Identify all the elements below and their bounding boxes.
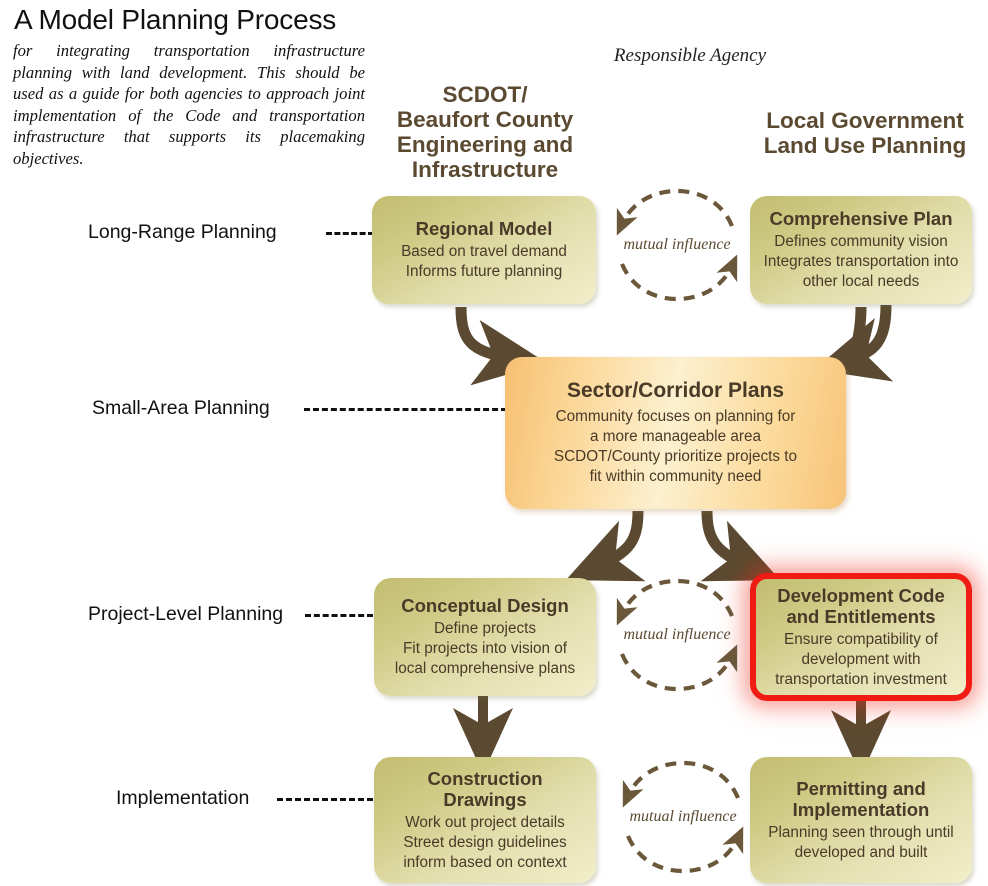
node-permitting-and-implementation[interactable]: Permitting and Implementation Planning s…	[750, 757, 972, 883]
node-detail-line: SCDOT/County prioritize projects to	[554, 447, 797, 467]
node-detail-line: Planning seen through until	[768, 823, 953, 843]
arrow-regional-model-to-sector	[461, 307, 512, 358]
node-detail-line: fit within community need	[590, 467, 762, 487]
node-detail-line: local comprehensive plans	[395, 659, 575, 679]
node-detail-line: other local needs	[803, 272, 920, 292]
node-title: Conceptual Design	[401, 595, 569, 616]
node-detail-line: Community focuses on planning for	[556, 407, 796, 427]
node-development-code-and-entitlements[interactable]: Development Code and Entitlements Ensure…	[750, 573, 972, 701]
node-detail-line: transportation investment	[775, 670, 947, 690]
node-detail-line: Integrates transportation into	[764, 252, 959, 272]
node-title: and Entitlements	[786, 606, 935, 627]
node-title: Construction	[427, 768, 542, 789]
node-detail-line: Define projects	[434, 619, 536, 639]
node-detail-line: Informs future planning	[406, 262, 562, 282]
node-detail-line: inform based on context	[403, 853, 566, 873]
mutual-influence-ellipse-icon	[604, 186, 750, 304]
node-detail-line: Defines community vision	[774, 232, 947, 252]
node-detail-line: development with	[801, 650, 920, 670]
diagram-canvas: A Model Planning Process for integrating…	[0, 0, 988, 886]
arrow-sector-to-development-code	[707, 511, 748, 566]
mutual-influence-group-2: mutual influence	[604, 576, 750, 694]
node-title: Implementation	[793, 799, 930, 820]
node-detail-line: a more manageable area	[590, 427, 761, 447]
node-comprehensive-plan[interactable]: Comprehensive Plan Defines community vis…	[750, 196, 972, 304]
node-detail-line: Street design guidelines	[403, 833, 566, 853]
node-detail-line: Fit projects into vision of	[403, 639, 567, 659]
mutual-influence-group-3: mutual influence	[610, 758, 756, 876]
mutual-influence-ellipse-icon	[610, 758, 756, 876]
node-title: Comprehensive Plan	[769, 208, 952, 229]
mutual-influence-group-1: mutual influence	[604, 186, 750, 304]
node-detail-line: Based on travel demand	[401, 242, 567, 262]
node-regional-model[interactable]: Regional Model Based on travel demand In…	[372, 196, 596, 304]
node-conceptual-design[interactable]: Conceptual Design Define projects Fit pr…	[374, 578, 596, 696]
node-title: Sector/Corridor Plans	[567, 380, 784, 401]
node-title: Regional Model	[416, 218, 553, 239]
node-title: Development Code	[777, 585, 945, 606]
arrow-sector-to-conceptual-design	[598, 511, 638, 566]
mutual-influence-ellipse-icon	[604, 576, 750, 694]
node-title: Drawings	[443, 789, 526, 810]
node-detail-line: Work out project details	[405, 813, 565, 833]
node-detail-line: Ensure compatibility of	[784, 630, 938, 650]
node-detail-line: developed and built	[795, 843, 928, 863]
node-construction-drawings[interactable]: Construction Drawings Work out project d…	[374, 757, 596, 883]
node-title: Permitting and	[796, 778, 926, 799]
arrow-comprehensive-plan-to-sector-stem	[855, 307, 861, 356]
node-sector-corridor-plans[interactable]: Sector/Corridor Plans Community focuses …	[505, 357, 846, 509]
